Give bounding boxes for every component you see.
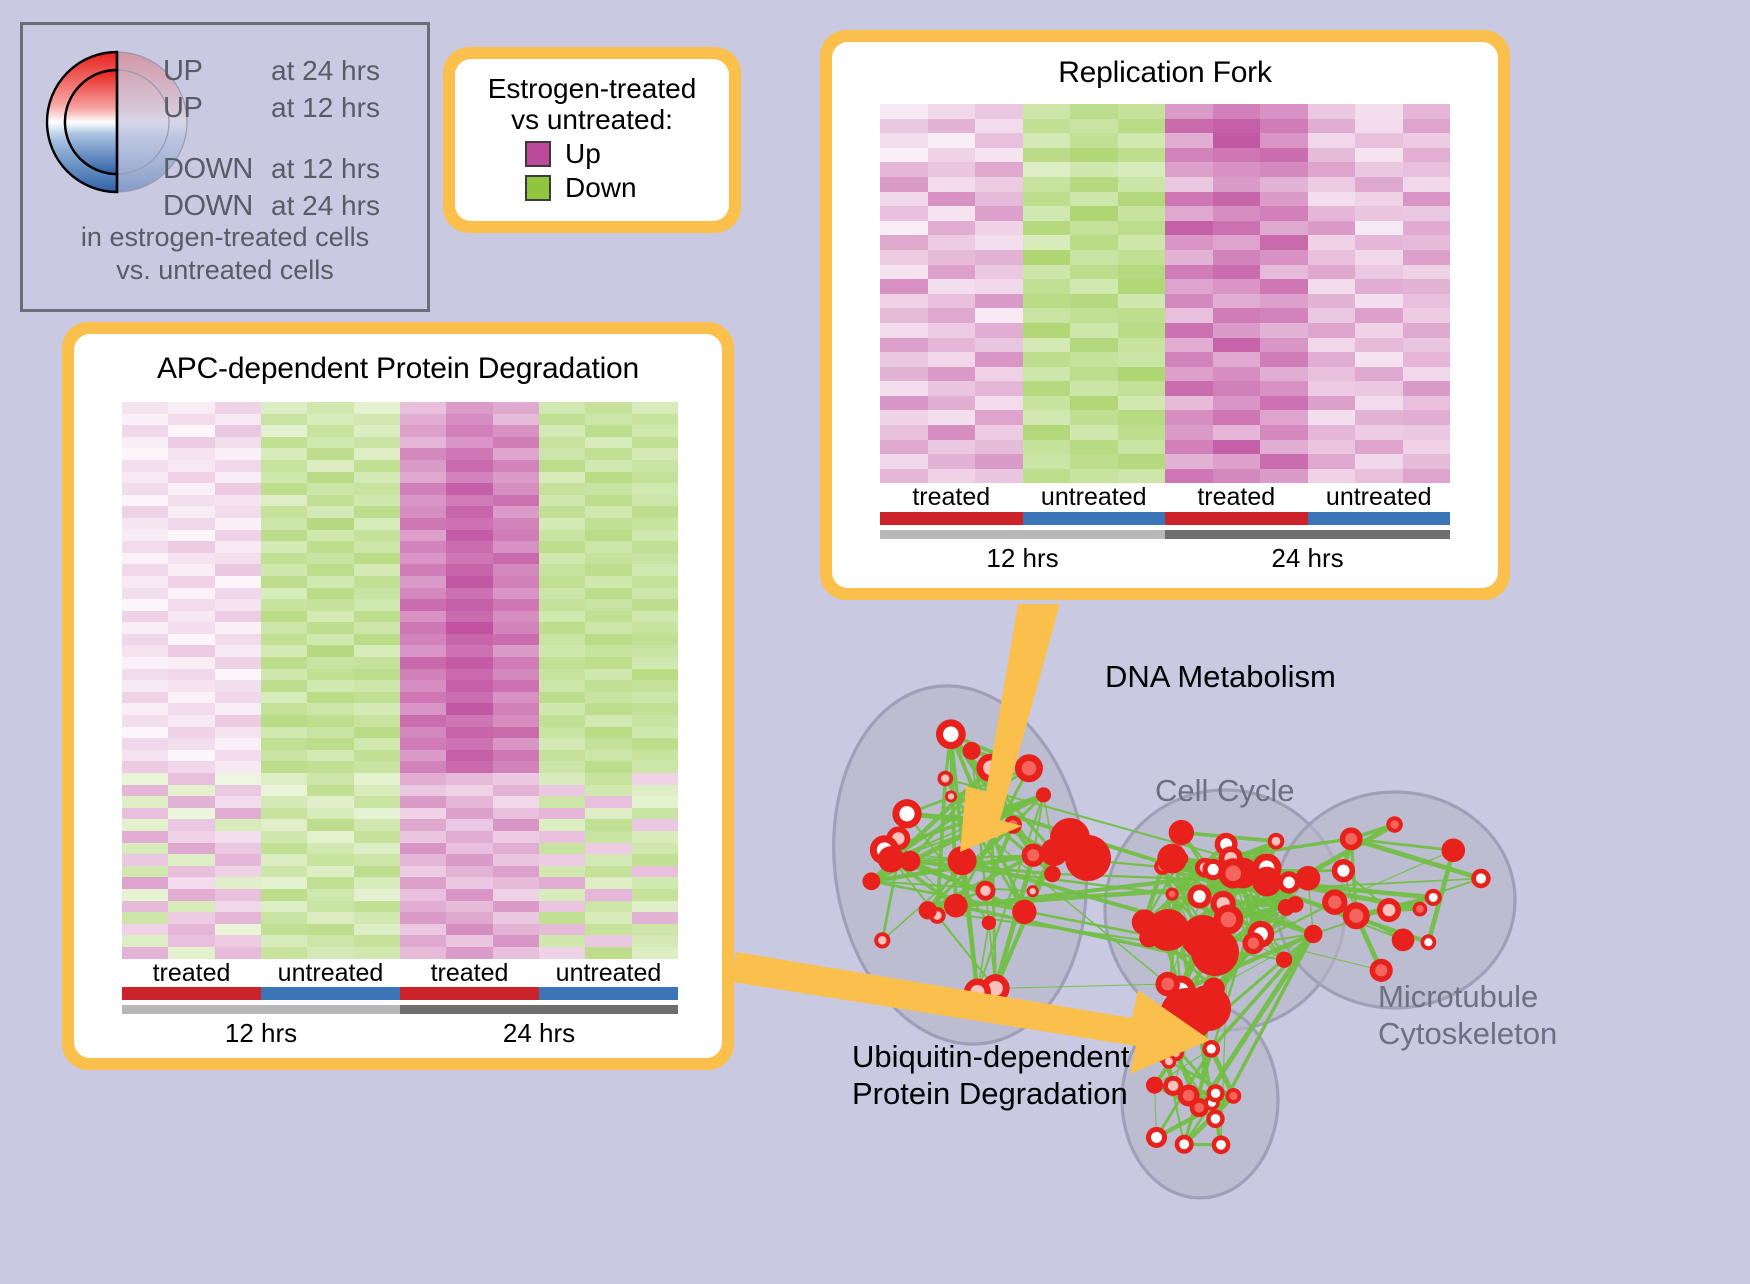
- heatmap-cell: [446, 935, 492, 947]
- heatmap-cell: [975, 367, 1023, 382]
- heatmap-cell: [400, 680, 446, 692]
- heatmap-cell: [1023, 440, 1071, 455]
- down-swatch-icon: [525, 175, 551, 201]
- heatmap-cell: [975, 294, 1023, 309]
- heatmap-cell: [122, 680, 168, 692]
- heatmap-cell: [261, 843, 307, 855]
- network-node: [948, 846, 977, 875]
- wheel-caption-line1: in estrogen-treated cells: [23, 221, 427, 254]
- heatmap-cell: [446, 495, 492, 507]
- heatmap-cell: [1070, 206, 1118, 221]
- heatmap-cell: [1023, 367, 1071, 382]
- heatmap-cell: [928, 338, 976, 353]
- heatmap-cell: [585, 518, 631, 530]
- heatmap-cell: [354, 819, 400, 831]
- heatmap-cell: [1308, 235, 1356, 250]
- heatmap-cell: [1070, 410, 1118, 425]
- heatmap-cell: [1213, 323, 1261, 338]
- heatmap-cell: [446, 553, 492, 565]
- heatmap-cell: [1403, 265, 1451, 280]
- heatmap-cell: [539, 843, 585, 855]
- heatmap-cell: [354, 657, 400, 669]
- heatmap-cell: [539, 553, 585, 565]
- heatmap-cell: [1070, 235, 1118, 250]
- heatmap-cell: [585, 796, 631, 808]
- heatmap-cell: [446, 669, 492, 681]
- heatmap-cell: [1403, 381, 1451, 396]
- heatmap-cell: [122, 924, 168, 936]
- heatmap-cell: [493, 425, 539, 437]
- network-node-core: [970, 985, 984, 999]
- heatmap-cell: [122, 819, 168, 831]
- heatmap-cell: [307, 448, 353, 460]
- heatmap-cell: [493, 460, 539, 472]
- heatmap-cell: [632, 622, 678, 634]
- heatmap-cell: [1355, 323, 1403, 338]
- heatmap-cell: [1165, 235, 1213, 250]
- heatmap-cell: [1308, 133, 1356, 148]
- heatmap-cell: [1355, 294, 1403, 309]
- heatmap-cell: [975, 250, 1023, 265]
- heatmap-cell: [446, 541, 492, 553]
- heatmap-cell: [880, 192, 928, 207]
- time-label: 12 hrs: [122, 1014, 400, 1049]
- heatmap-cell: [307, 576, 353, 588]
- heatmap-cell: [1260, 206, 1308, 221]
- network-node: [982, 916, 996, 930]
- heatmap-cell: [585, 715, 631, 727]
- heatmap-cell: [493, 576, 539, 588]
- heatmap-cell: [632, 819, 678, 831]
- heatmap-cell: [1118, 338, 1166, 353]
- heatmap-cell: [1308, 192, 1356, 207]
- heatmap-cell: [400, 703, 446, 715]
- heatmap-cell: [400, 553, 446, 565]
- network-node: [963, 742, 981, 760]
- heatmap-cell: [215, 576, 261, 588]
- network-node-core: [1022, 761, 1037, 776]
- heatmap-cell: [928, 235, 976, 250]
- heatmap-cell: [261, 518, 307, 530]
- heatmap-cell: [1023, 294, 1071, 309]
- heatmap-cell: [1118, 352, 1166, 367]
- heatmap-cell: [354, 773, 400, 785]
- heatmap-cell: [307, 611, 353, 623]
- heatmap-cell: [168, 634, 214, 646]
- heatmap-cell: [354, 889, 400, 901]
- heatmap-cell: [1355, 148, 1403, 163]
- heatmap-cell: [307, 460, 353, 472]
- heatmap-cell: [354, 947, 400, 959]
- condition-color-bar: [539, 987, 678, 1000]
- condition-label: untreated: [261, 959, 400, 988]
- heatmap-cell: [1023, 454, 1071, 469]
- heatmap-cell: [261, 564, 307, 576]
- heatmap-cell: [1118, 235, 1166, 250]
- heatmap-cell: [493, 854, 539, 866]
- heatmap-cell: [1403, 410, 1451, 425]
- heatmap-cell: [1213, 454, 1261, 469]
- heatmap-cell: [1165, 294, 1213, 309]
- heatmap-cell: [585, 866, 631, 878]
- heatmap-cell: [307, 715, 353, 727]
- heatmap-cell: [1118, 162, 1166, 177]
- heatmap-cell: [880, 396, 928, 411]
- heatmap-cell: [261, 483, 307, 495]
- heatmap-cell: [1260, 279, 1308, 294]
- heatmap-cell: [122, 495, 168, 507]
- heatmap-cell: [168, 947, 214, 959]
- heatmap-cell: [122, 599, 168, 611]
- heatmap-cell: [446, 611, 492, 623]
- heatmap-cell: [261, 553, 307, 565]
- network-label-microtubule-cytoskeleton: Microtubule Cytoskeleton: [1378, 978, 1557, 1052]
- heatmap-cell: [400, 588, 446, 600]
- wheel-direction: UP: [163, 55, 271, 88]
- heatmap-cell: [122, 854, 168, 866]
- heatmap-cell: [1260, 235, 1308, 250]
- heatmap-cell: [400, 437, 446, 449]
- heatmap-cell: [975, 323, 1023, 338]
- heatmap-cell: [632, 530, 678, 542]
- heatmap-cell: [1070, 352, 1118, 367]
- heatmap-cell: [307, 437, 353, 449]
- heatmap-cell: [928, 396, 976, 411]
- heatmap-cell: [1260, 469, 1308, 484]
- replication-fork-panel: Replication Fork treateduntreatedtreated…: [820, 30, 1510, 600]
- heatmap-cell: [168, 645, 214, 657]
- heatmap-cell: [539, 402, 585, 414]
- heatmap-cell: [1070, 250, 1118, 265]
- condition-color-bar: [261, 987, 400, 1000]
- heatmap-cell: [307, 669, 353, 681]
- heatmap-cell: [1403, 235, 1451, 250]
- heatmap-cell: [261, 657, 307, 669]
- heatmap-cell: [1308, 279, 1356, 294]
- heatmap-cell: [215, 808, 261, 820]
- heatmap-cell: [1403, 454, 1451, 469]
- heatmap-cell: [975, 440, 1023, 455]
- heatmap-cell: [122, 425, 168, 437]
- condition-color-bar: [1308, 512, 1451, 525]
- heatmap-cell: [215, 680, 261, 692]
- heatmap-cell: [1308, 440, 1356, 455]
- time-color-bar: [122, 1005, 400, 1014]
- heatmap-cell: [1260, 323, 1308, 338]
- heatmap-cell: [215, 634, 261, 646]
- heatmap-cell: [122, 564, 168, 576]
- heatmap-cell: [261, 831, 307, 843]
- network-node-core: [1207, 1044, 1216, 1053]
- heatmap-cell: [539, 738, 585, 750]
- heatmap-cell: [1260, 367, 1308, 382]
- heatmap-cell: [446, 924, 492, 936]
- heatmap-cell: [539, 599, 585, 611]
- heatmap-cell: [539, 530, 585, 542]
- heatmap-cell: [261, 947, 307, 959]
- network-node-core: [1416, 905, 1424, 913]
- heatmap-cell: [1213, 410, 1261, 425]
- heatmap-cell: [261, 703, 307, 715]
- heatmap-cell: [493, 611, 539, 623]
- heatmap-cell: [1118, 177, 1166, 192]
- heatmap-cell: [215, 819, 261, 831]
- heatmap-cell: [446, 808, 492, 820]
- heatmap-cell: [354, 669, 400, 681]
- heatmap-cell: [122, 750, 168, 762]
- condition-label: treated: [400, 959, 539, 988]
- heatmap-cell: [880, 308, 928, 323]
- heatmap-cell: [1118, 119, 1166, 134]
- heatmap-cell: [168, 703, 214, 715]
- heatmap-cell: [354, 541, 400, 553]
- heatmap-cell: [1118, 469, 1166, 484]
- heatmap-cell: [354, 750, 400, 762]
- heatmap-cell: [168, 541, 214, 553]
- network-node: [1157, 844, 1187, 874]
- heatmap-cell: [632, 460, 678, 472]
- heatmap-cell: [928, 381, 976, 396]
- heatmap-cell: [446, 761, 492, 773]
- heatmap-cell: [1355, 352, 1403, 367]
- heatmap-cell: [215, 761, 261, 773]
- heatmap-cell: [261, 460, 307, 472]
- heatmap-cell: [493, 843, 539, 855]
- heatmap-cell: [122, 715, 168, 727]
- heatmap-cell: [975, 279, 1023, 294]
- heatmap-cell: [400, 541, 446, 553]
- network-node: [1036, 787, 1051, 802]
- heatmap-cell: [493, 796, 539, 808]
- heatmap-cell: [1403, 308, 1451, 323]
- heatmap-cell: [539, 854, 585, 866]
- heatmap-cell: [1213, 221, 1261, 236]
- heatmap-cell: [1118, 265, 1166, 280]
- heatmap-cell: [354, 727, 400, 739]
- network-node-core: [1008, 820, 1017, 829]
- heatmap-cell: [168, 854, 214, 866]
- heatmap-cell: [1213, 308, 1261, 323]
- heatmap-cell: [122, 866, 168, 878]
- heatmap-cell: [880, 381, 928, 396]
- heatmap-cell: [261, 448, 307, 460]
- wheel-row-up-12: UP at 12 hrs: [163, 92, 423, 129]
- heatmap-cell: [261, 935, 307, 947]
- heatmap-cell: [122, 773, 168, 785]
- heatmap-cell: [1070, 367, 1118, 382]
- heatmap-cell: [168, 425, 214, 437]
- heatmap-cell: [354, 692, 400, 704]
- heatmap-cell: [400, 483, 446, 495]
- heatmap-cell: [1165, 192, 1213, 207]
- heatmap-cell: [122, 588, 168, 600]
- heatmap-cell: [1165, 396, 1213, 411]
- heatmap-cell: [1308, 469, 1356, 484]
- heatmap-cell: [1023, 177, 1071, 192]
- heatmap-cell: [1118, 367, 1166, 382]
- heatmap-cell: [1165, 425, 1213, 440]
- heatmap-cell: [168, 448, 214, 460]
- heatmap-cell: [928, 104, 976, 119]
- heatmap-cell: [539, 495, 585, 507]
- heatmap-cell: [493, 518, 539, 530]
- heatmap-cell: [446, 796, 492, 808]
- heatmap-cell: [261, 738, 307, 750]
- heatmap-cell: [632, 773, 678, 785]
- heatmap-cell: [1165, 352, 1213, 367]
- heatmap-cell: [1260, 177, 1308, 192]
- heatmap-cell: [585, 831, 631, 843]
- heatmap-cell: [215, 785, 261, 797]
- heatmap-cell: [585, 854, 631, 866]
- heatmap-cell: [261, 414, 307, 426]
- heatmap-cell: [122, 437, 168, 449]
- network-node-core: [1429, 893, 1438, 902]
- heatmap-cell: [261, 715, 307, 727]
- heatmap-cell: [1355, 410, 1403, 425]
- heatmap-cell: [928, 308, 976, 323]
- heatmap-cell: [1260, 338, 1308, 353]
- heatmap-cell: [880, 294, 928, 309]
- legend-label-down: Down: [565, 172, 637, 204]
- heatmap-cell: [1355, 367, 1403, 382]
- network-node-core: [1029, 888, 1035, 894]
- heatmap-cell: [1403, 221, 1451, 236]
- network-node-core: [1225, 866, 1241, 882]
- heatmap-cell: [215, 831, 261, 843]
- heatmap-cell: [307, 738, 353, 750]
- heatmap-cell: [354, 425, 400, 437]
- network-node: [862, 872, 880, 890]
- heatmap-cell: [1308, 308, 1356, 323]
- heatmap-cell: [400, 808, 446, 820]
- heatmap-cell: [1070, 148, 1118, 163]
- heatmap-cell: [1070, 221, 1118, 236]
- heatmap-cell: [446, 518, 492, 530]
- heatmap-cell: [1023, 410, 1071, 425]
- heatmap-cell: [1165, 279, 1213, 294]
- time-color-bar: [880, 530, 1165, 539]
- network-node-core: [1193, 890, 1206, 903]
- heatmap-cell: [632, 796, 678, 808]
- heatmap-cell: [1355, 162, 1403, 177]
- heatmap-cell: [354, 796, 400, 808]
- heatmap-cell: [1165, 381, 1213, 396]
- heatmap-cell: [539, 703, 585, 715]
- heatmap-cell: [261, 692, 307, 704]
- heatmap-cell: [215, 854, 261, 866]
- network-node: [919, 901, 937, 919]
- heatmap-cell: [493, 483, 539, 495]
- heatmap-cell: [1403, 469, 1451, 484]
- legend-item-up: Up: [525, 138, 713, 170]
- heatmap-cell: [928, 367, 976, 382]
- heatmap-cell: [168, 831, 214, 843]
- heatmap-cell: [493, 564, 539, 576]
- heatmap-cell: [585, 553, 631, 565]
- heatmap-cell: [1023, 308, 1071, 323]
- heatmap-cell: [975, 133, 1023, 148]
- heatmap-cell: [1213, 367, 1261, 382]
- heatmap-cell: [928, 454, 976, 469]
- estrogen-title-line2: vs untreated:: [471, 104, 713, 135]
- network-node-core: [1349, 909, 1363, 923]
- heatmap-cell: [975, 148, 1023, 163]
- heatmap-cell: [215, 912, 261, 924]
- heatmap-cell: [1070, 381, 1118, 396]
- heatmap-cell: [585, 437, 631, 449]
- heatmap-cell: [446, 448, 492, 460]
- heatmap-cell: [307, 912, 353, 924]
- heatmap-cell: [1023, 279, 1071, 294]
- network-node-core: [1328, 896, 1341, 909]
- heatmap-cell: [168, 495, 214, 507]
- heatmap-cell: [880, 469, 928, 484]
- heatmap-cell: [168, 738, 214, 750]
- heatmap-cell: [215, 669, 261, 681]
- heatmap-cell: [122, 483, 168, 495]
- heatmap-cell: [122, 935, 168, 947]
- heatmap-cell: [1118, 279, 1166, 294]
- heatmap-cell: [1070, 308, 1118, 323]
- network-node-core: [1211, 1089, 1220, 1098]
- heatmap-cell: [1308, 454, 1356, 469]
- heatmap-cell: [539, 727, 585, 739]
- network-node-core: [1424, 938, 1432, 946]
- heatmap-cell: [446, 437, 492, 449]
- heatmap-cell: [493, 541, 539, 553]
- heatmap-cell: [1213, 279, 1261, 294]
- heatmap-cell: [1308, 177, 1356, 192]
- network-node-core: [1337, 865, 1349, 877]
- heatmap-cell: [1308, 338, 1356, 353]
- network-node-core: [1476, 873, 1486, 883]
- heatmap-cell: [585, 901, 631, 913]
- heatmap-cell: [493, 622, 539, 634]
- heatmap-cell: [307, 553, 353, 565]
- heatmap-cell: [215, 924, 261, 936]
- heatmap-cell: [928, 250, 976, 265]
- heatmap-cell: [354, 518, 400, 530]
- heatmap-cell: [261, 634, 307, 646]
- heatmap-cell: [928, 192, 976, 207]
- heatmap-cell: [215, 518, 261, 530]
- heatmap-cell: [261, 599, 307, 611]
- heatmap-cell: [585, 483, 631, 495]
- heatmap-cell: [1023, 265, 1071, 280]
- heatmap-cell: [354, 530, 400, 542]
- heatmap-cell: [1355, 396, 1403, 411]
- heatmap-cell: [632, 901, 678, 913]
- heatmap-cell: [1118, 294, 1166, 309]
- heatmap-cell: [975, 162, 1023, 177]
- heatmap-cell: [400, 843, 446, 855]
- heatmap-cell: [1403, 250, 1451, 265]
- heatmap-cell: [975, 352, 1023, 367]
- heatmap-cell: [1260, 250, 1308, 265]
- network-node: [878, 846, 904, 872]
- heatmap-cell: [168, 727, 214, 739]
- heatmap-cell: [1165, 323, 1213, 338]
- heatmap-cell: [354, 553, 400, 565]
- heatmap-cell: [880, 148, 928, 163]
- heatmap-cell: [928, 469, 976, 484]
- heatmap-cell: [400, 947, 446, 959]
- heatmap-cell: [539, 947, 585, 959]
- heatmap-cell: [539, 785, 585, 797]
- heatmap-cell: [354, 935, 400, 947]
- heatmap-cell: [928, 177, 976, 192]
